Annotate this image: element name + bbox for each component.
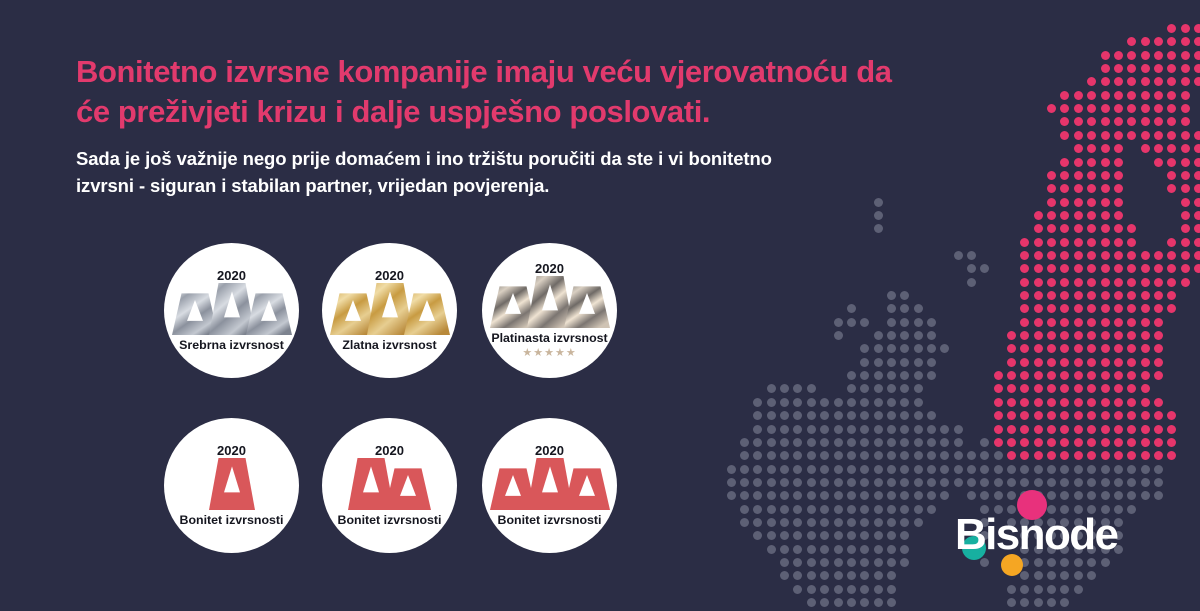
map-dot-base	[767, 491, 776, 500]
map-dot-base	[900, 318, 909, 327]
map-dot-base	[914, 411, 923, 420]
map-dot-base	[834, 491, 843, 500]
map-dot-base	[820, 545, 829, 554]
map-dot-base	[874, 425, 883, 434]
map-dot-highlight	[1127, 451, 1136, 460]
map-dot-base	[793, 505, 802, 514]
map-dot-highlight	[1007, 344, 1016, 353]
map-dot-base	[753, 531, 762, 540]
map-dot-highlight	[1101, 184, 1110, 193]
certification-badge[interactable]: 2020 Bonitet izvrsnosti	[322, 418, 457, 553]
map-dot-highlight	[1181, 264, 1190, 273]
map-dot-highlight	[1141, 64, 1150, 73]
map-dot-base	[887, 531, 896, 540]
map-dot-base	[874, 518, 883, 527]
map-dot-highlight	[1114, 398, 1123, 407]
map-dot-highlight	[1127, 384, 1136, 393]
star-icon: ★	[522, 347, 533, 359]
map-dot-highlight	[1020, 331, 1029, 340]
map-dot-base	[874, 224, 883, 233]
map-dot-base	[900, 411, 909, 420]
map-dot-base	[887, 425, 896, 434]
map-dot-highlight	[1087, 198, 1096, 207]
certification-badge[interactable]: 2020 Srebrna izvrsnost	[164, 243, 299, 378]
map-dot-highlight	[1167, 104, 1176, 113]
map-dot-highlight	[1047, 384, 1056, 393]
map-dot-base	[847, 545, 856, 554]
map-dot-base	[847, 531, 856, 540]
map-dot-highlight	[994, 425, 1003, 434]
map-dot-highlight	[1101, 104, 1110, 113]
map-dot-highlight	[1047, 104, 1056, 113]
map-dot-highlight	[1194, 131, 1200, 140]
map-dot-base	[793, 384, 802, 393]
map-dot-base	[793, 411, 802, 420]
map-dot-base	[1074, 478, 1083, 487]
map-dot-base	[914, 478, 923, 487]
map-dot-highlight	[1127, 398, 1136, 407]
map-dot-highlight	[1034, 291, 1043, 300]
map-dot-base	[1047, 598, 1056, 607]
map-dot-base	[1060, 585, 1069, 594]
map-dot-base	[967, 264, 976, 273]
map-dot-base	[887, 371, 896, 380]
map-dot-highlight	[1087, 425, 1096, 434]
map-dot-highlight	[1020, 384, 1029, 393]
map-dot-highlight	[1020, 304, 1029, 313]
map-dot-base	[780, 438, 789, 447]
map-dot-highlight	[1101, 398, 1110, 407]
map-dot-highlight	[1127, 411, 1136, 420]
map-dot-highlight	[1074, 144, 1083, 153]
map-dot-highlight	[1114, 104, 1123, 113]
map-dot-highlight	[1074, 438, 1083, 447]
map-dot-base	[887, 518, 896, 527]
map-dot-base	[780, 384, 789, 393]
certification-badge[interactable]: 2020 Zlatna izvrsnost	[322, 243, 457, 378]
map-dot-base	[793, 478, 802, 487]
map-dot-highlight	[1060, 117, 1069, 126]
map-dot-base	[834, 571, 843, 580]
map-dot-highlight	[1154, 291, 1163, 300]
map-dot-highlight	[1141, 264, 1150, 273]
map-dot-base	[807, 518, 816, 527]
map-dot-highlight	[1114, 144, 1123, 153]
map-dot-highlight	[1114, 358, 1123, 367]
map-dot-highlight	[1087, 371, 1096, 380]
map-dot-highlight	[1020, 344, 1029, 353]
map-dot-base	[793, 585, 802, 594]
certification-badge[interactable]: 2020 Platinasta izvrsnost★★★★★	[482, 243, 617, 378]
map-dot-highlight	[1007, 358, 1016, 367]
map-dot-highlight	[1114, 51, 1123, 60]
map-dot-base	[753, 425, 762, 434]
map-dot-base	[847, 384, 856, 393]
map-dot-highlight	[1114, 411, 1123, 420]
map-dot-base	[807, 451, 816, 460]
map-dot-base	[874, 384, 883, 393]
map-dot-highlight	[1047, 304, 1056, 313]
map-dot-highlight	[1167, 291, 1176, 300]
map-dot-highlight	[1127, 131, 1136, 140]
map-dot-base	[967, 251, 976, 260]
map-dot-highlight	[1087, 304, 1096, 313]
certification-badge[interactable]: 2020 Bonitet izvrsnosti	[482, 418, 617, 553]
map-dot-highlight	[1087, 131, 1096, 140]
map-dot-highlight	[1074, 291, 1083, 300]
map-dot-base	[753, 438, 762, 447]
map-dot-highlight	[1114, 158, 1123, 167]
map-dot-highlight	[1167, 131, 1176, 140]
map-dot-highlight	[1194, 184, 1200, 193]
map-dot-base	[927, 505, 936, 514]
map-dot-base	[980, 451, 989, 460]
map-dot-base	[887, 384, 896, 393]
map-dot-highlight	[1167, 251, 1176, 260]
map-dot-highlight	[1034, 438, 1043, 447]
map-dot-highlight	[1034, 251, 1043, 260]
map-dot-highlight	[1167, 425, 1176, 434]
map-dot-base	[767, 384, 776, 393]
map-dot-base	[914, 438, 923, 447]
rating-mark-3a	[172, 283, 292, 335]
map-dot-base	[887, 598, 896, 607]
map-dot-highlight	[1114, 251, 1123, 260]
map-dot-base	[887, 411, 896, 420]
map-dot-highlight	[1101, 198, 1110, 207]
map-dot-highlight	[1101, 51, 1110, 60]
map-dot-base	[820, 558, 829, 567]
map-dot-base	[900, 465, 909, 474]
map-dot-highlight	[1074, 264, 1083, 273]
map-dot-highlight	[1101, 158, 1110, 167]
map-dot-highlight	[1060, 158, 1069, 167]
map-dot-base	[994, 451, 1003, 460]
map-dot-highlight	[1141, 278, 1150, 287]
map-dot-base	[914, 371, 923, 380]
map-dot-highlight	[1141, 144, 1150, 153]
map-dot-highlight	[1060, 131, 1069, 140]
map-dot-base	[860, 371, 869, 380]
map-dot-highlight	[1060, 211, 1069, 220]
map-dot-highlight	[1167, 91, 1176, 100]
badge-rating-mark	[172, 283, 292, 335]
map-dot-highlight	[1194, 264, 1200, 273]
map-dot-highlight	[1141, 117, 1150, 126]
map-dot-base	[847, 318, 856, 327]
map-dot-base	[1047, 478, 1056, 487]
map-dot-base	[740, 465, 749, 474]
map-dot-base	[820, 478, 829, 487]
map-dot-highlight	[1060, 344, 1069, 353]
map-dot-base	[927, 451, 936, 460]
map-dot-base	[874, 585, 883, 594]
map-dot-highlight	[1114, 384, 1123, 393]
map-dot-highlight	[1060, 251, 1069, 260]
map-dot-base	[887, 331, 896, 340]
map-dot-highlight	[1020, 278, 1029, 287]
map-dot-highlight	[1074, 224, 1083, 233]
map-dot-base	[874, 531, 883, 540]
map-dot-highlight	[1087, 358, 1096, 367]
page-title: Bonitetno izvrsne kompanije imaju veću v…	[76, 52, 896, 133]
map-dot-highlight	[1127, 238, 1136, 247]
map-dot-base	[900, 371, 909, 380]
map-dot-base	[914, 491, 923, 500]
map-dot-highlight	[1141, 344, 1150, 353]
map-dot-base	[860, 585, 869, 594]
map-dot-highlight	[1074, 251, 1083, 260]
map-dot-base	[847, 371, 856, 380]
map-dot-highlight	[1087, 184, 1096, 193]
map-dot-highlight	[1034, 451, 1043, 460]
map-dot-base	[753, 491, 762, 500]
map-dot-base	[874, 451, 883, 460]
map-dot-base	[767, 438, 776, 447]
map-dot-highlight	[1060, 371, 1069, 380]
map-dot-highlight	[1101, 91, 1110, 100]
map-dot-highlight	[1194, 77, 1200, 86]
map-dot-base	[834, 478, 843, 487]
map-dot-highlight	[1181, 37, 1190, 46]
map-dot-base	[807, 585, 816, 594]
map-dot-base	[914, 398, 923, 407]
map-dot-highlight	[1087, 438, 1096, 447]
map-dot-base	[900, 545, 909, 554]
map-dot-base	[807, 598, 816, 607]
map-dot-highlight	[1101, 291, 1110, 300]
map-dot-base	[954, 478, 963, 487]
badge-label: Bonitet izvrsnosti	[338, 514, 442, 526]
map-dot-base	[874, 398, 883, 407]
map-dot-highlight	[1127, 304, 1136, 313]
map-dot-base	[834, 585, 843, 594]
map-dot-highlight	[1060, 438, 1069, 447]
map-dot-highlight	[1060, 451, 1069, 460]
map-dot-highlight	[1181, 171, 1190, 180]
map-dot-base	[860, 478, 869, 487]
map-dot-highlight	[1087, 251, 1096, 260]
map-dot-base	[807, 531, 816, 540]
map-dot-highlight	[1141, 425, 1150, 434]
map-dot-highlight	[1060, 238, 1069, 247]
map-dot-base	[1074, 465, 1083, 474]
map-dot-highlight	[1020, 398, 1029, 407]
map-dot-base	[940, 344, 949, 353]
map-dot-highlight	[1167, 438, 1176, 447]
map-dot-base	[847, 491, 856, 500]
map-dot-base	[900, 438, 909, 447]
map-dot-highlight	[1034, 425, 1043, 434]
map-dot-highlight	[1047, 358, 1056, 367]
map-dot-base	[900, 384, 909, 393]
map-dot-highlight	[1154, 144, 1163, 153]
map-dot-highlight	[1101, 411, 1110, 420]
map-dot-base	[767, 545, 776, 554]
map-dot-base	[954, 425, 963, 434]
map-dot-highlight	[1034, 264, 1043, 273]
map-dot-base	[900, 558, 909, 567]
map-dot-base	[874, 505, 883, 514]
map-dot-highlight	[1194, 238, 1200, 247]
map-dot-base	[834, 531, 843, 540]
map-dot-base	[793, 425, 802, 434]
badge-rating-mark	[348, 458, 431, 510]
map-dot-base	[834, 331, 843, 340]
map-dot-highlight	[1141, 398, 1150, 407]
map-dot-highlight	[1047, 331, 1056, 340]
map-dot-base	[820, 491, 829, 500]
map-dot-highlight	[1167, 24, 1176, 33]
map-dot-highlight	[1047, 371, 1056, 380]
map-dot-highlight	[1181, 91, 1190, 100]
map-dot-base	[887, 344, 896, 353]
map-dot-base	[1060, 598, 1069, 607]
map-dot-base	[780, 505, 789, 514]
map-dot-highlight	[1101, 304, 1110, 313]
map-dot-base	[887, 451, 896, 460]
map-dot-highlight	[1007, 398, 1016, 407]
map-dot-base	[740, 491, 749, 500]
map-dot-highlight	[1034, 304, 1043, 313]
map-dot-highlight	[1154, 358, 1163, 367]
certification-badge[interactable]: 2020 Bonitet izvrsnosti	[164, 418, 299, 553]
map-dot-base	[1007, 585, 1016, 594]
map-dot-highlight	[1114, 77, 1123, 86]
map-dot-base	[820, 518, 829, 527]
map-dot-highlight	[1181, 131, 1190, 140]
map-dot-base	[820, 598, 829, 607]
map-dot-highlight	[1047, 224, 1056, 233]
map-dot-highlight	[1114, 304, 1123, 313]
map-dot-highlight	[1154, 131, 1163, 140]
map-dot-highlight	[1034, 211, 1043, 220]
badge-label: Srebrna izvrsnost	[179, 339, 284, 351]
map-dot-highlight	[1101, 64, 1110, 73]
map-dot-base	[860, 505, 869, 514]
map-dot-highlight	[1181, 251, 1190, 260]
map-dot-highlight	[1087, 224, 1096, 233]
map-dot-highlight	[1074, 184, 1083, 193]
map-dot-highlight	[1034, 371, 1043, 380]
map-dot-base	[1007, 478, 1016, 487]
map-dot-highlight	[1154, 51, 1163, 60]
map-dot-highlight	[1074, 384, 1083, 393]
map-dot-base	[1020, 585, 1029, 594]
map-dot-base	[860, 531, 869, 540]
map-dot-highlight	[1141, 384, 1150, 393]
map-dot-highlight	[1154, 344, 1163, 353]
map-dot-highlight	[1114, 451, 1123, 460]
map-dot-highlight	[1127, 64, 1136, 73]
map-dot-base	[887, 291, 896, 300]
map-dot-base	[834, 505, 843, 514]
map-dot-highlight	[1087, 171, 1096, 180]
map-dot-highlight	[1074, 331, 1083, 340]
map-dot-highlight	[1141, 51, 1150, 60]
map-dot-base	[887, 304, 896, 313]
map-dot-base	[780, 531, 789, 540]
map-dot-highlight	[1114, 117, 1123, 126]
badge-year: 2020	[217, 444, 246, 457]
map-dot-highlight	[1074, 238, 1083, 247]
map-dot-base	[927, 358, 936, 367]
map-dot-base	[780, 425, 789, 434]
map-dot-highlight	[1167, 264, 1176, 273]
map-dot-highlight	[1141, 131, 1150, 140]
map-dot-base	[767, 451, 776, 460]
map-dot-base	[807, 398, 816, 407]
map-dot-highlight	[1167, 411, 1176, 420]
map-dot-base	[807, 478, 816, 487]
map-dot-highlight	[1127, 291, 1136, 300]
map-dot-base	[1047, 585, 1056, 594]
map-dot-highlight	[1154, 158, 1163, 167]
map-dot-highlight	[1034, 238, 1043, 247]
map-dot-base	[900, 451, 909, 460]
map-dot-highlight	[1114, 278, 1123, 287]
map-dot-highlight	[1154, 77, 1163, 86]
map-dot-highlight	[1154, 104, 1163, 113]
map-dot-base	[860, 318, 869, 327]
map-dot-highlight	[1074, 344, 1083, 353]
map-dot-base	[807, 384, 816, 393]
map-dot-highlight	[1101, 451, 1110, 460]
map-dot-base	[834, 598, 843, 607]
map-dot-highlight	[1114, 238, 1123, 247]
map-dot-base	[807, 558, 816, 567]
map-dot-highlight	[1074, 425, 1083, 434]
map-dot-base	[1034, 598, 1043, 607]
map-dot-highlight	[1047, 425, 1056, 434]
map-dot-highlight	[1047, 238, 1056, 247]
map-dot-highlight	[1101, 438, 1110, 447]
map-dot-highlight	[994, 371, 1003, 380]
badge-year: 2020	[375, 444, 404, 457]
map-dot-highlight	[1101, 331, 1110, 340]
map-dot-highlight	[1141, 371, 1150, 380]
map-dot-base	[954, 451, 963, 460]
map-dot-base	[740, 438, 749, 447]
map-dot-base	[914, 358, 923, 367]
map-dot-base	[874, 198, 883, 207]
map-dot-base	[807, 545, 816, 554]
map-dot-highlight	[1074, 131, 1083, 140]
map-dot-base	[780, 451, 789, 460]
map-dot-highlight	[1060, 331, 1069, 340]
map-dot-highlight	[1101, 318, 1110, 327]
map-dot-base	[847, 304, 856, 313]
badge-star-rating: ★★★★★	[522, 348, 576, 359]
map-dot-highlight	[1087, 117, 1096, 126]
map-dot-highlight	[1047, 171, 1056, 180]
map-dot-highlight	[1087, 291, 1096, 300]
map-dot-highlight	[1047, 198, 1056, 207]
map-dot-highlight	[1141, 104, 1150, 113]
badge-label: Zlatna izvrsnost	[342, 339, 436, 351]
map-dot-base	[900, 531, 909, 540]
map-dot-highlight	[1167, 451, 1176, 460]
map-dot-highlight	[1181, 198, 1190, 207]
star-icon: ★	[566, 347, 577, 359]
map-dot-highlight	[1101, 144, 1110, 153]
map-dot-base	[820, 571, 829, 580]
map-dot-base	[927, 425, 936, 434]
map-dot-base	[767, 531, 776, 540]
map-dot-base	[847, 598, 856, 607]
map-dot-base	[834, 425, 843, 434]
map-dot-base	[874, 438, 883, 447]
